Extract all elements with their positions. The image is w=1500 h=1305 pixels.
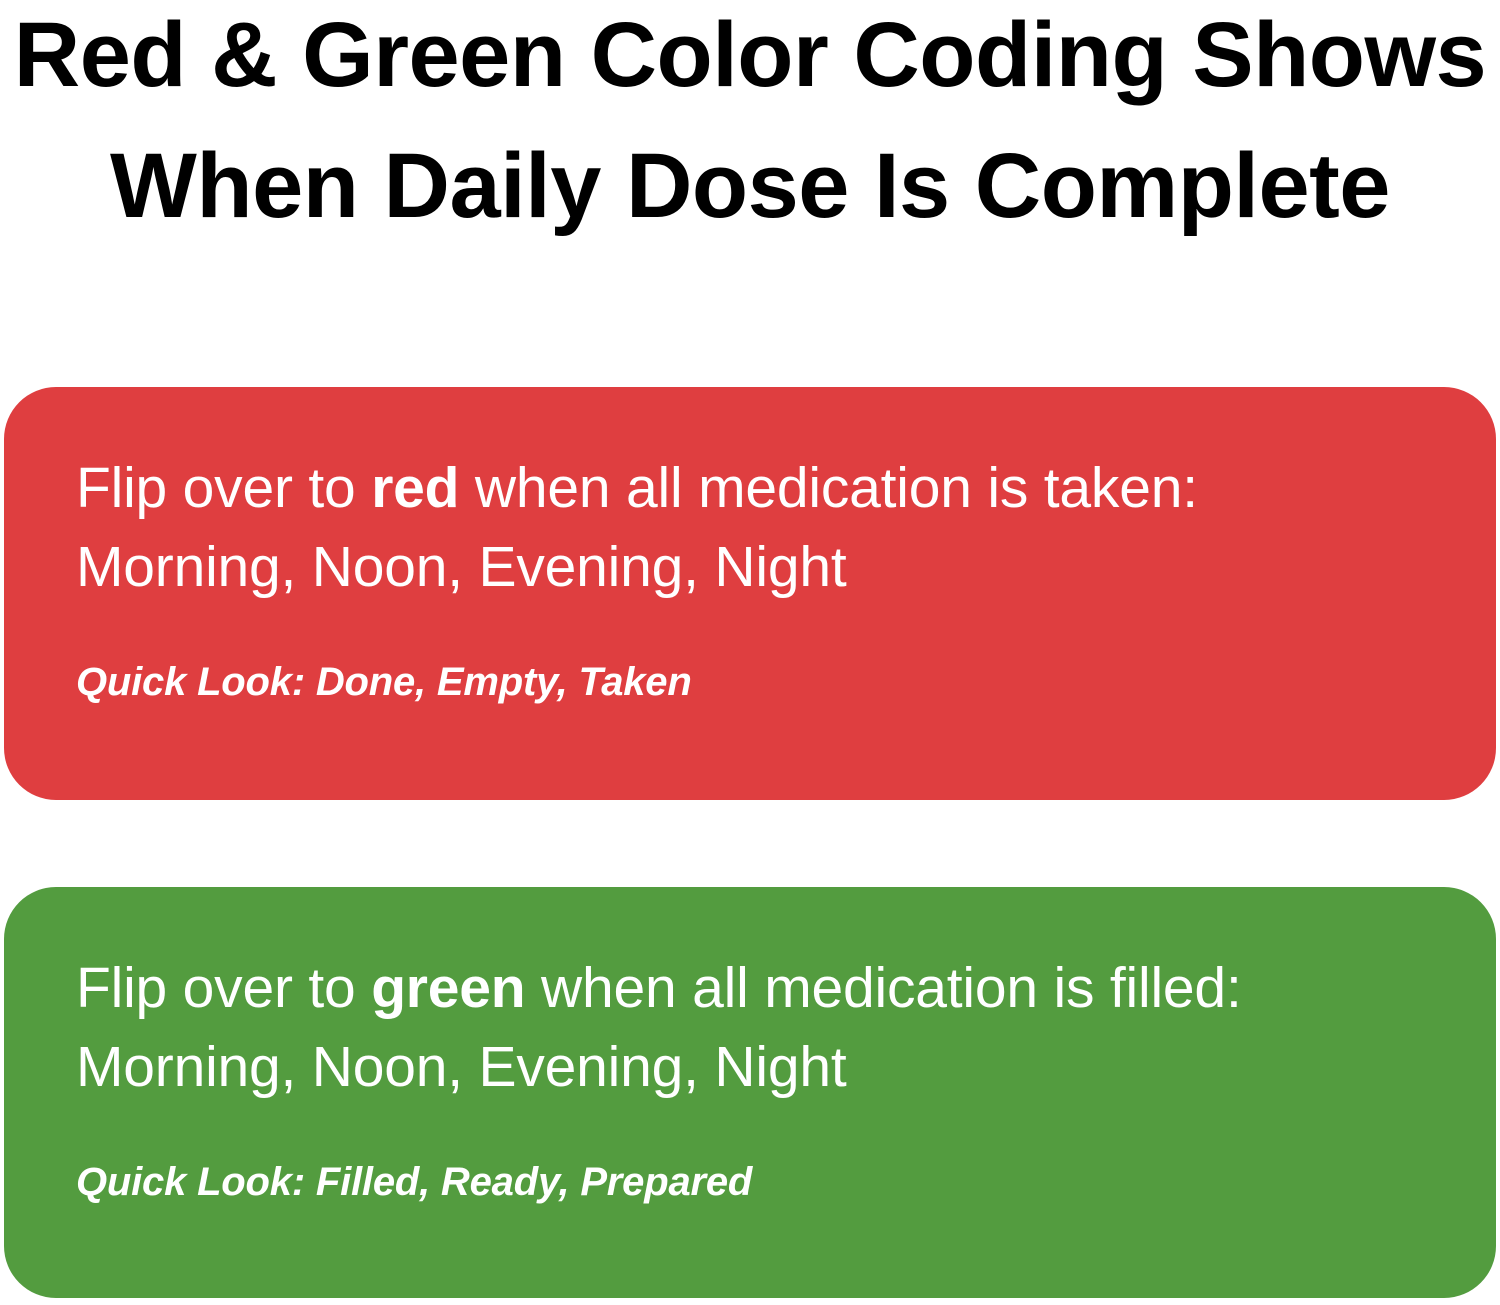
green-instruction-panel: Flip over to green when all medication i… xyxy=(4,887,1496,1298)
green-headline-line-2: Morning, Noon, Evening, Night xyxy=(76,1035,846,1099)
red-panel-headline: Flip over to red when all medication is … xyxy=(76,449,1424,606)
green-panel-headline: Flip over to green when all medication i… xyxy=(76,949,1424,1106)
green-headline-suffix: when all medication is filled: xyxy=(525,956,1241,1020)
red-instruction-panel: Flip over to red when all medication is … xyxy=(4,387,1496,800)
page-title-line-2: When Daily Dose Is Complete xyxy=(0,121,1500,252)
red-headline-emphasis: red xyxy=(371,456,459,520)
red-headline-line-2: Morning, Noon, Evening, Night xyxy=(76,535,846,599)
page-title-line-1: Red & Green Color Coding Shows xyxy=(0,0,1500,121)
red-quick-look: Quick Look: Done, Empty, Taken xyxy=(76,606,1424,706)
green-quick-look: Quick Look: Filled, Ready, Prepared xyxy=(76,1106,1424,1206)
red-headline-prefix: Flip over to xyxy=(76,456,371,520)
red-headline-suffix: when all medication is taken: xyxy=(459,456,1198,520)
page-title: Red & Green Color Coding Shows When Dail… xyxy=(0,0,1500,251)
green-headline-emphasis: green xyxy=(371,956,525,1020)
green-headline-prefix: Flip over to xyxy=(76,956,371,1020)
